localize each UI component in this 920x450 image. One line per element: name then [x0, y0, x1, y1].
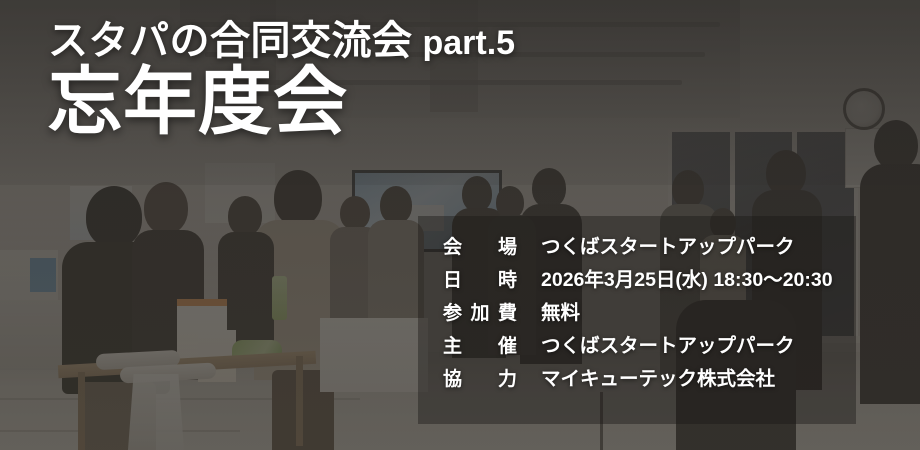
- event-banner: スタパの合同交流会part.5 忘年度会 会場 つくばスタートアップパーク 日時…: [0, 0, 920, 450]
- blue-wall-panel: [30, 258, 56, 292]
- plastic-bag: [128, 374, 184, 450]
- table-leg: [78, 372, 85, 450]
- table-leg: [296, 356, 303, 446]
- title-line-2: 忘年度会: [48, 63, 515, 141]
- info-value-fee: 無料: [541, 296, 580, 325]
- drink-bottle: [272, 276, 287, 320]
- info-value-cooperation: マイキューテック株式会社: [541, 362, 775, 391]
- title-series-text: スタパの合同交流会: [48, 19, 413, 63]
- wall-clock-icon: [843, 88, 885, 130]
- info-label-venue: 会場: [443, 232, 517, 259]
- info-value-organizer: つくばスタートアップパーク: [541, 329, 795, 358]
- title-part-number: part.5: [423, 24, 516, 62]
- info-row-venue: 会場 つくばスタートアップパーク: [443, 230, 856, 263]
- side-table: [320, 318, 428, 392]
- event-info-panel: 会場 つくばスタートアップパーク 日時 2026年3月25日(水) 18:30〜…: [418, 216, 856, 424]
- info-label-datetime: 日時: [443, 265, 517, 292]
- info-value-datetime: 2026年3月25日(水) 18:30〜20:30: [541, 263, 833, 292]
- info-label-cooperation: 協力: [443, 364, 517, 391]
- banner-title: スタパの合同交流会part.5 忘年度会: [48, 18, 515, 142]
- info-row-organizer: 主催 つくばスタートアップパーク: [443, 329, 856, 362]
- info-label-organizer: 主催: [443, 331, 517, 358]
- info-row-datetime: 日時 2026年3月25日(水) 18:30〜20:30: [443, 263, 856, 296]
- info-row-fee: 参加費 無料: [443, 296, 856, 329]
- info-row-cooperation: 協力 マイキューテック株式会社: [443, 362, 856, 395]
- info-label-fee: 参加費: [443, 298, 517, 325]
- info-value-venue: つくばスタートアップパーク: [541, 230, 795, 259]
- title-line-1: スタパの合同交流会part.5: [48, 18, 515, 65]
